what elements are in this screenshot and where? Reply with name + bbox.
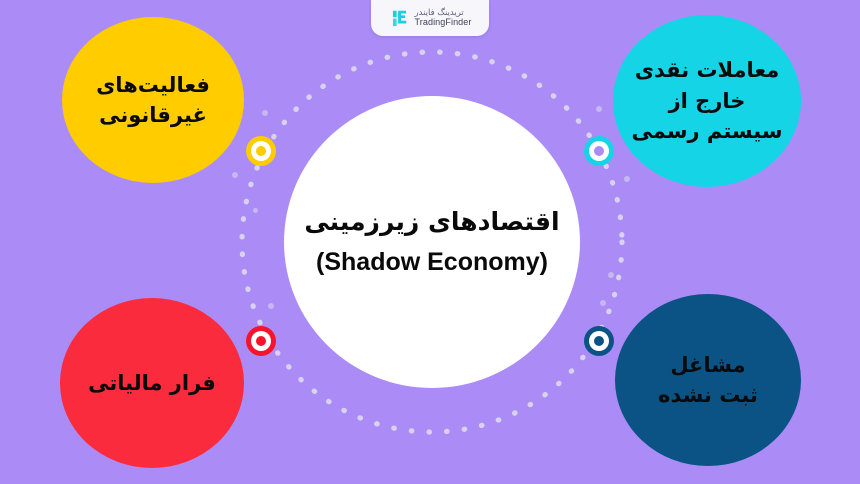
connector-marker-cash-transactions [584,136,614,166]
node-unregistered-jobs[interactable]: مشاغل ثبت نشده [615,294,801,466]
decorative-dot [262,110,268,116]
marker-ring [589,331,609,351]
connector-marker-illegal-activities [246,136,276,166]
node-illegal-activities[interactable]: فعالیت‌های غیرقانونی [62,17,244,183]
connector-marker-unregistered-jobs [584,326,614,356]
node-label: معاملات نقدی خارج از سیستم رسمی [622,55,793,146]
marker-core [256,336,266,346]
decorative-dot [253,208,258,213]
node-tax-evasion[interactable]: فرار مالیاتی [60,298,244,468]
node-label: مشاغل ثبت نشده [648,350,768,411]
decorative-dot [596,106,602,112]
logo-text-block: تریدینگ فایندر TradingFinder [415,9,472,27]
marker-core [256,146,266,156]
node-cash-transactions[interactable]: معاملات نقدی خارج از سیستم رسمی [613,15,801,187]
decorative-dot [608,272,614,278]
node-label: فعالیت‌های غیرقانونی [86,70,220,131]
marker-ring [589,141,609,161]
center-title-en: (Shadow Economy) [316,249,548,277]
decorative-dot [232,172,238,178]
node-label: فرار مالیاتی [78,368,226,398]
infographic-canvas: اقتصادهای زیرزمینی (Shadow Economy) فعال… [0,0,860,484]
logo-name-en: TradingFinder [415,18,472,27]
tradingfinder-logo-icon [389,8,410,29]
marker-core [594,336,604,346]
marker-ring [251,141,271,161]
center-title-fa: اقتصادهای زیرزمینی [304,208,559,236]
tradingfinder-watermark[interactable]: تریدینگ فایندر TradingFinder [371,0,489,36]
decorative-dot [268,303,274,309]
decorative-dot [600,300,606,306]
connector-marker-tax-evasion [246,326,276,356]
marker-ring [251,331,271,351]
decorative-dot [624,176,630,182]
center-hub: اقتصادهای زیرزمینی (Shadow Economy) [284,96,580,388]
marker-core [594,146,604,156]
